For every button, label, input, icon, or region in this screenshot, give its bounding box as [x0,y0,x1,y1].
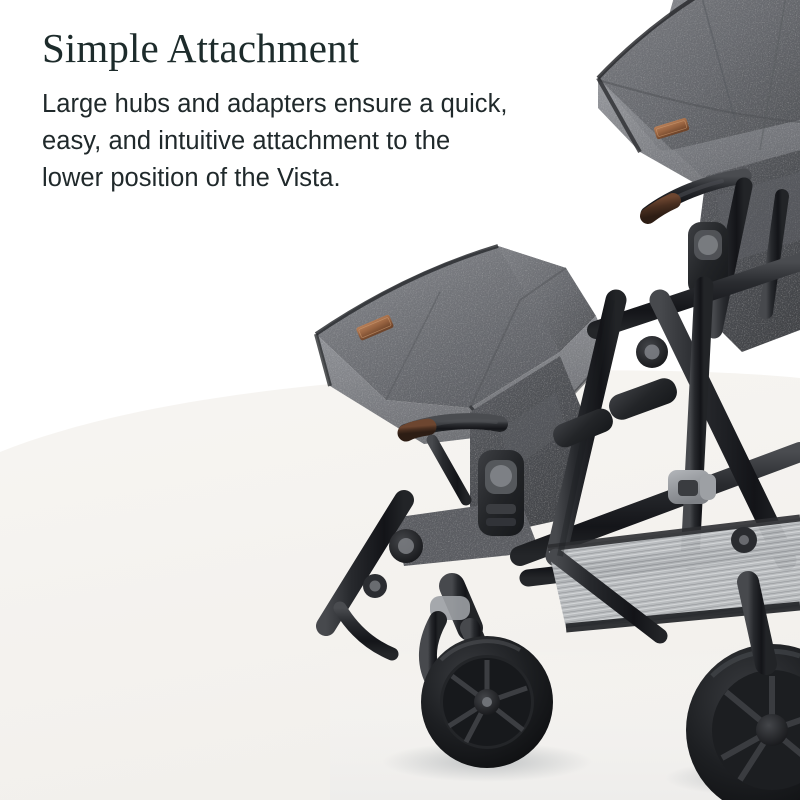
product-feature-card: Simple Attachment Large hubs and adapter… [0,0,800,800]
attachment-hub [478,450,524,536]
lower-bumper-leather-grip [406,427,428,433]
stroller-illustration [0,0,800,800]
lower-seat-footrest [340,608,392,654]
adapter-bracket [668,470,716,504]
chassis-strut-c [690,286,704,560]
rear-hub [756,714,788,746]
front-wheel-assembly [421,586,553,768]
chassis-release-block [606,375,681,423]
